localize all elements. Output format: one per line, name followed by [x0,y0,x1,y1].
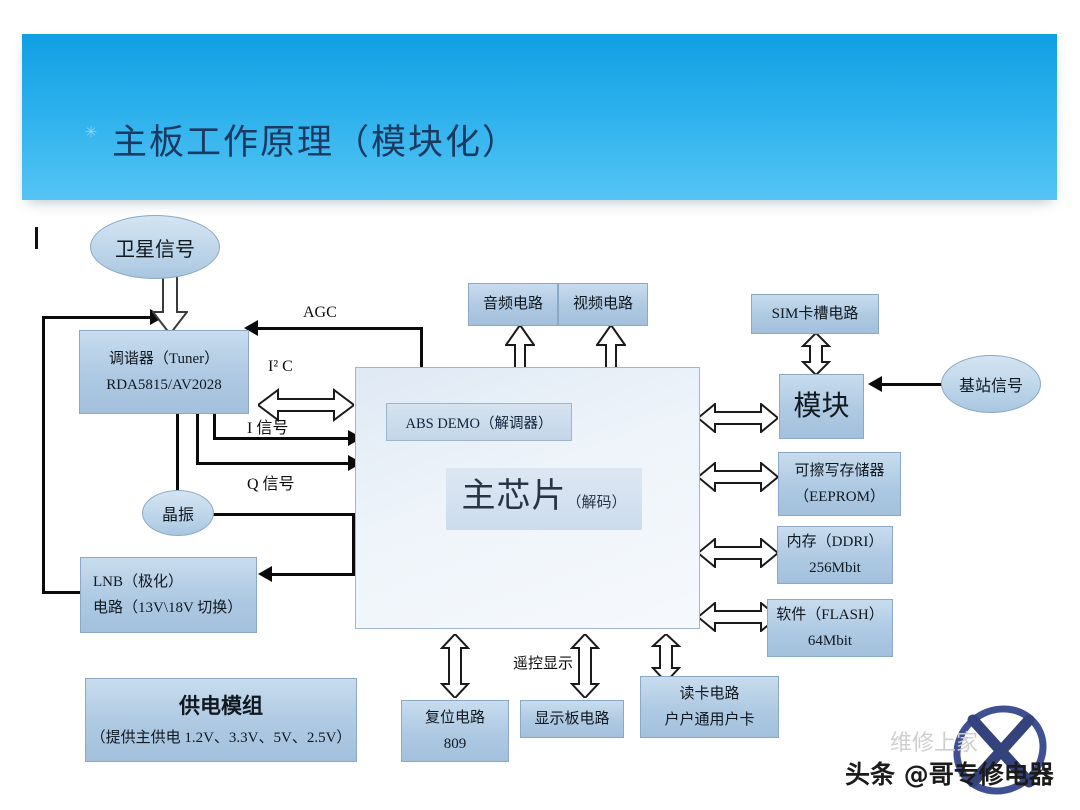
node-label-line2: 电路（13V\18V 切换） [93,598,242,618]
node-label-line2: （EEPROM） [794,487,885,507]
line-i-signal-up [213,414,216,439]
node-label: 显示板电路 [534,709,609,729]
node-audio-circuit[interactable]: 音频电路 [468,283,558,326]
block-arrow-chip-to-display [570,634,600,698]
node-label: 晶振 [162,501,194,525]
node-label-line2: 64Mbit [808,631,852,651]
node-base-station-signal[interactable]: 基站信号 [941,355,1041,413]
arrowhead-module-input [868,376,882,392]
node-label-line2: 户户通用户卡 [664,710,754,730]
block-arrow-chip-to-card-reader [651,634,681,682]
node-reset-circuit[interactable]: 复位电路 809 [401,700,509,762]
node-ddr[interactable]: 内存（DDRI） 256Mbit [777,526,893,584]
line-agc [248,327,423,330]
node-label-line2: 256Mbit [809,558,861,578]
edge-label-agc: AGC [303,304,337,322]
block-arrow-chip-to-ddr [698,538,778,568]
node-sim-slot[interactable]: SIM卡槽电路 [751,294,879,334]
sparkle-icon: ✳ [84,126,98,140]
arrowhead-lnb [258,566,272,582]
node-label-line1: 复位电路 [425,708,485,728]
node-label: SIM卡槽电路 [772,304,859,324]
line-q-signal-up [196,414,199,464]
main-chip-label-group: 主芯片 （解码） [446,468,642,530]
node-crystal[interactable]: 晶振 [142,490,214,536]
line-lnb-left-stub [42,591,82,594]
node-label: 基站信号 [959,372,1023,396]
node-label: 视频电路 [573,294,633,314]
node-video-circuit[interactable]: 视频电路 [558,283,648,326]
block-arrow-sim-to-module [801,333,831,375]
node-label: 卫星信号 [115,233,195,262]
node-label: 音频电路 [483,294,543,314]
node-label-line1: 读卡电路 [679,684,739,704]
node-label-line1: 调谐器（Tuner） [109,349,219,369]
title-banner: ✳ 主板工作原理（模块化） [22,34,1057,200]
node-display-board[interactable]: 显示板电路 [520,700,624,738]
edge-label-i2c: I² C [268,358,293,376]
line-agc-down [420,327,423,369]
node-label-line2: RDA5815/AV2028 [106,375,222,395]
node-power-module[interactable]: 供电模组 （提供主供电 1.2V、3.3V、5V、2.5V） [85,678,357,762]
node-label: 模块 [793,388,849,426]
block-arrow-chip-to-flash [698,602,778,632]
node-label-suffix: （解码） [566,491,626,512]
watermark-text: 头条 @哥专修电器 [845,755,1054,791]
line-lnb-to-tuner-top [42,316,157,319]
edge-label-i-signal: I 信号 [247,414,288,438]
node-eeprom[interactable]: 可擦写存储器 （EEPROM） [778,452,901,516]
line-chip-to-lnb [271,573,355,576]
text-caret [35,227,38,249]
node-label: ABS DEMO（解调器） [405,412,552,433]
node-module[interactable]: 模块 [779,374,864,439]
block-arrow-chip-to-eeprom [698,462,778,492]
node-card-reader[interactable]: 读卡电路 户户通用户卡 [640,676,779,738]
line-lnb-to-tuner-vertical [42,316,45,594]
block-arrow-chip-to-audio [505,325,535,371]
edge-label-q-signal: Q 信号 [247,470,295,494]
node-label-line2: （提供主供电 1.2V、3.3V、5V、2.5V） [91,728,352,748]
node-abs-demo[interactable]: ABS DEMO（解调器） [386,403,572,441]
node-main-chip[interactable]: ABS DEMO（解调器） 主芯片 （解码） [355,367,700,629]
line-basestation-to-module [880,383,942,386]
node-satellite-signal[interactable]: 卫星信号 [90,215,220,279]
node-label-line2: 809 [444,734,467,754]
block-arrow-chip-to-module [698,403,778,433]
node-tuner[interactable]: 调谐器（Tuner） RDA5815/AV2028 [79,330,249,414]
node-label-line1: 供电模组 [179,692,263,720]
line-crystal-to-chip [210,513,355,516]
node-label: 主芯片 [461,468,566,517]
node-label-line1: LNB（极化） [93,572,183,592]
watermark-ghost-text: 维修上家 [890,725,978,757]
node-label-line1: 软件（FLASH） [776,605,884,625]
block-arrow-chip-to-reset [440,634,470,698]
node-flash[interactable]: 软件（FLASH） 64Mbit [767,599,893,657]
node-lnb[interactable]: LNB（极化） 电路（13V\18V 切换） [80,557,257,633]
node-label-line1: 内存（DDRI） [787,532,884,552]
edge-label-remote-display: 遥控显示 [513,652,573,673]
node-label-line1: 可擦写存储器 [794,461,884,481]
line-q-signal [196,462,353,465]
line-tuner-to-crystal [176,414,179,490]
block-arrow-chip-to-video [596,325,626,371]
page-title: 主板工作原理（模块化） [112,114,519,165]
